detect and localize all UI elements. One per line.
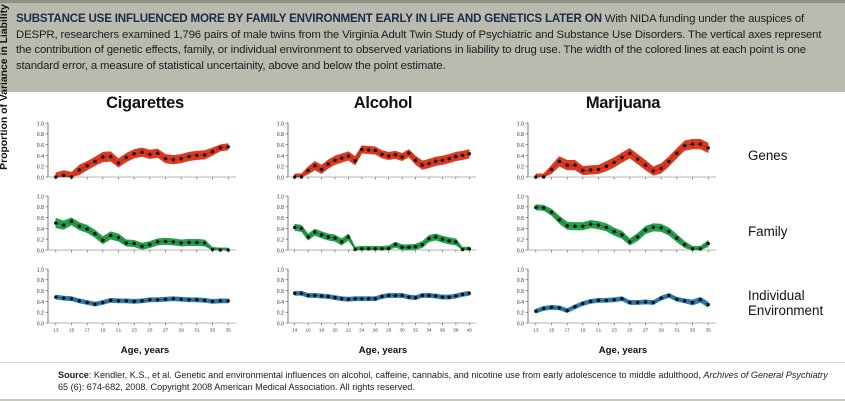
data-point: [62, 174, 66, 178]
y-tick-label: 0.8: [277, 205, 284, 211]
data-point: [219, 146, 223, 150]
y-tick-label: 0.8: [37, 278, 44, 284]
data-point: [644, 300, 648, 304]
y-tick-label: 1.0: [517, 267, 524, 273]
plot-svg: 0.00.20.40.60.81.0: [502, 120, 720, 188]
data-point: [691, 247, 695, 251]
data-point: [109, 299, 113, 303]
chart-alcohol-genes: 0.00.20.40.60.81.0: [262, 120, 480, 188]
header-lede: SUBSTANCE USE INFLUENCED MORE BY FAMILY …: [16, 12, 602, 25]
x-tick-label: 32: [413, 327, 419, 333]
data-point: [550, 210, 554, 214]
y-tick-label: 1.0: [277, 267, 284, 273]
data-point: [62, 223, 66, 227]
y-tick-label: 0.6: [277, 289, 284, 295]
data-point: [612, 298, 616, 302]
x-tick-label: 31: [194, 327, 200, 333]
data-point: [54, 175, 58, 179]
x-tick-label: 35: [225, 327, 231, 333]
y-tick-label: 0.8: [517, 205, 524, 211]
data-point: [675, 297, 679, 301]
x-tick-label: 30: [399, 327, 405, 333]
data-point: [628, 151, 632, 155]
data-point: [179, 157, 183, 161]
data-point: [219, 248, 223, 252]
chart-cigarettes-family: 0.00.20.40.60.81.0: [22, 193, 240, 261]
data-point: [195, 241, 199, 245]
y-tick-label: 0.0: [37, 248, 44, 254]
y-tick-label: 0.0: [37, 175, 44, 181]
data-point: [581, 224, 585, 228]
data-point: [581, 169, 585, 173]
y-tick-label: 0.2: [277, 238, 284, 244]
data-point: [70, 297, 74, 301]
data-point: [683, 144, 687, 148]
data-point: [148, 298, 152, 302]
y-tick-label: 1.0: [277, 121, 284, 127]
data-point: [156, 151, 160, 155]
data-point: [558, 306, 562, 310]
plot-svg: 0.00.20.40.60.81.01315171921232527293133…: [502, 266, 720, 334]
x-tick-label: 15: [549, 327, 555, 333]
data-point: [93, 232, 97, 236]
data-point: [558, 218, 562, 222]
data-point: [597, 299, 601, 303]
data-point: [101, 239, 105, 243]
data-point: [78, 168, 82, 172]
row-label-family: Family: [748, 224, 787, 239]
chart-marijuana-family: 0.00.20.40.60.81.0: [502, 193, 720, 261]
data-point: [706, 242, 710, 246]
data-point: [667, 230, 671, 234]
y-tick-label: 0.6: [37, 289, 44, 295]
data-point: [565, 163, 569, 167]
data-point: [605, 299, 609, 303]
data-point: [109, 234, 113, 238]
data-point: [447, 239, 451, 243]
data-point: [367, 247, 371, 251]
data-point: [581, 302, 585, 306]
x-tick-label: 23: [131, 327, 137, 333]
x-axis-title-alcohol: Age, years: [268, 345, 498, 356]
data-point: [172, 240, 176, 244]
data-point: [534, 175, 538, 179]
data-point: [394, 153, 398, 157]
data-point: [367, 148, 371, 152]
data-point: [644, 163, 648, 167]
data-point: [179, 241, 183, 245]
data-point: [534, 206, 538, 210]
data-point: [327, 295, 331, 299]
data-point: [380, 247, 384, 251]
data-point: [683, 299, 687, 303]
data-point: [195, 154, 199, 158]
data-point: [550, 306, 554, 310]
data-point: [667, 294, 671, 298]
data-point: [340, 156, 344, 160]
data-point: [407, 246, 411, 250]
y-tick-label: 0.2: [277, 311, 284, 317]
chart-alcohol-individual-environment: 0.00.20.40.60.81.01416182022242628303234…: [262, 266, 480, 334]
data-point: [659, 296, 663, 300]
error-band: [536, 205, 708, 250]
data-point: [454, 155, 458, 159]
data-point: [125, 241, 129, 245]
x-tick-label: 18: [319, 327, 325, 333]
data-point: [597, 223, 601, 227]
data-point: [306, 169, 310, 173]
x-tick-label: 28: [386, 327, 392, 333]
data-point: [573, 305, 577, 309]
data-point: [101, 301, 105, 305]
data-point: [636, 235, 640, 239]
data-point: [387, 294, 391, 298]
column-title-cigarettes: Cigarettes: [30, 94, 260, 113]
x-tick-label: 27: [643, 327, 649, 333]
y-tick-label: 0.6: [37, 143, 44, 149]
x-tick-label: 35: [705, 327, 711, 333]
data-point: [394, 243, 398, 247]
chart-marijuana-genes: 0.00.20.40.60.81.0: [502, 120, 720, 188]
x-tick-label: 13: [53, 327, 59, 333]
data-point: [652, 169, 656, 173]
x-tick-label: 33: [690, 327, 696, 333]
y-tick-label: 0.6: [517, 216, 524, 222]
y-tick-label: 0.4: [517, 227, 524, 233]
data-point: [78, 299, 82, 303]
y-tick-label: 0.0: [517, 248, 524, 254]
data-point: [374, 247, 378, 251]
data-point: [427, 162, 431, 166]
data-point: [226, 248, 230, 252]
data-point: [320, 168, 324, 172]
data-point: [172, 297, 176, 301]
y-tick-label: 0.2: [37, 238, 44, 244]
data-point: [652, 226, 656, 230]
data-point: [179, 297, 183, 301]
data-point: [327, 162, 331, 166]
data-point: [340, 240, 344, 244]
y-tick-label: 0.2: [517, 165, 524, 171]
data-point: [691, 142, 695, 146]
y-tick-label: 0.4: [277, 154, 284, 160]
data-point: [203, 299, 207, 303]
data-point: [300, 175, 304, 179]
source-label: Source: [58, 370, 89, 380]
data-point: [347, 154, 351, 158]
data-point: [340, 297, 344, 301]
data-point: [374, 297, 378, 301]
data-point: [468, 247, 472, 251]
data-point: [434, 294, 438, 298]
data-point: [597, 168, 601, 172]
data-point: [93, 302, 97, 306]
data-point: [620, 156, 624, 160]
data-point: [667, 160, 671, 164]
data-point: [387, 154, 391, 158]
data-point: [306, 294, 310, 298]
data-point: [306, 235, 310, 239]
data-point: [468, 152, 472, 156]
x-tick-label: 20: [332, 327, 338, 333]
y-tick-label: 1.0: [277, 194, 284, 200]
y-tick-label: 0.0: [277, 248, 284, 254]
data-point: [434, 235, 438, 239]
data-point: [636, 301, 640, 305]
data-point: [414, 245, 418, 249]
data-point: [70, 220, 74, 224]
data-point: [628, 240, 632, 244]
data-point: [353, 248, 357, 252]
data-point: [441, 237, 445, 241]
column-title-alcohol: Alcohol: [268, 94, 498, 113]
x-tick-label: 17: [564, 327, 570, 333]
data-point: [421, 294, 425, 298]
data-point: [454, 294, 458, 298]
data-point: [558, 160, 562, 164]
plot-svg: 0.00.20.40.60.81.01416182022242628303234…: [262, 266, 480, 334]
data-point: [293, 175, 297, 179]
data-point: [589, 300, 593, 304]
data-point: [203, 241, 207, 245]
row-label-genes: Genes: [748, 148, 787, 163]
data-point: [219, 299, 223, 303]
column-title-marijuana: Marijuana: [508, 94, 738, 113]
data-point: [636, 157, 640, 161]
data-point: [187, 241, 191, 245]
data-point: [461, 248, 465, 252]
footer-source: Source: Kendler, K.S., et al. Genetic an…: [0, 362, 845, 401]
x-tick-label: 22: [346, 327, 352, 333]
y-axis-title: Proportion of Variance in Liability: [0, 0, 10, 192]
data-point: [400, 246, 404, 250]
y-tick-label: 1.0: [517, 194, 524, 200]
y-tick-label: 0.4: [517, 300, 524, 306]
source-journal: Archives of General Psychiatry: [703, 370, 827, 380]
y-tick-label: 0.6: [517, 143, 524, 149]
x-tick-label: 14: [292, 327, 298, 333]
data-point: [659, 226, 663, 230]
data-point: [620, 297, 624, 301]
y-tick-label: 0.0: [277, 321, 284, 327]
data-point: [132, 242, 136, 246]
data-point: [360, 297, 364, 301]
data-point: [333, 296, 337, 300]
data-point: [156, 240, 160, 244]
data-point: [78, 224, 82, 228]
data-point: [534, 309, 538, 313]
data-point: [353, 159, 357, 163]
row-label-individual-environment: Individual Environment: [748, 288, 840, 318]
data-point: [187, 155, 191, 159]
x-tick-label: 29: [178, 327, 184, 333]
y-tick-label: 0.8: [37, 205, 44, 211]
plot-svg: 0.00.20.40.60.81.0: [22, 120, 240, 188]
data-point: [387, 247, 391, 251]
data-point: [62, 296, 66, 300]
data-point: [226, 145, 230, 149]
data-point: [565, 309, 569, 313]
data-point: [109, 155, 113, 159]
plot-grid: Proportion of Variance in Liability Ciga…: [0, 92, 845, 362]
data-point: [85, 301, 89, 305]
data-point: [421, 243, 425, 247]
x-tick-label: 40: [467, 327, 473, 333]
data-point: [447, 157, 451, 161]
data-point: [164, 297, 168, 301]
data-point: [468, 292, 472, 296]
y-tick-label: 0.4: [517, 154, 524, 160]
data-point: [140, 150, 144, 154]
data-point: [675, 151, 679, 155]
plot-svg: 0.00.20.40.60.81.01315171921232527293133…: [22, 266, 240, 334]
y-tick-label: 0.6: [277, 143, 284, 149]
data-point: [461, 293, 465, 297]
y-tick-label: 0.2: [517, 311, 524, 317]
data-point: [313, 164, 317, 168]
y-tick-label: 0.0: [517, 321, 524, 327]
data-point: [605, 164, 609, 168]
data-point: [313, 230, 317, 234]
source-line-2: 65 (6): 674-682, 2008. Copyright 2008 Am…: [58, 382, 415, 392]
data-point: [407, 151, 411, 155]
x-tick-label: 15: [69, 327, 75, 333]
data-point: [132, 300, 136, 304]
data-point: [542, 307, 546, 311]
data-point: [454, 240, 458, 244]
x-tick-label: 17: [84, 327, 90, 333]
y-tick-label: 0.4: [37, 227, 44, 233]
data-point: [226, 299, 230, 303]
data-point: [211, 150, 215, 154]
data-point: [85, 164, 89, 168]
data-point: [85, 227, 89, 231]
data-point: [367, 297, 371, 301]
error-band: [295, 224, 470, 250]
data-point: [93, 160, 97, 164]
data-point: [675, 236, 679, 240]
data-point: [414, 296, 418, 300]
data-point: [565, 224, 569, 228]
x-tick-label: 27: [163, 327, 169, 333]
x-axis-title-cigarettes: Age, years: [30, 345, 260, 356]
data-point: [156, 298, 160, 302]
data-point: [320, 233, 324, 237]
data-point: [300, 292, 304, 296]
data-point: [620, 233, 624, 237]
y-tick-label: 0.6: [37, 216, 44, 222]
x-tick-label: 36: [440, 327, 446, 333]
x-tick-label: 34: [426, 327, 432, 333]
data-point: [612, 161, 616, 165]
y-tick-label: 0.2: [37, 165, 44, 171]
data-point: [164, 240, 168, 244]
x-tick-label: 23: [611, 327, 617, 333]
x-tick-label: 38: [453, 327, 459, 333]
plot-svg: 0.00.20.40.60.81.0: [22, 193, 240, 261]
data-point: [441, 295, 445, 299]
header-band: SUBSTANCE USE INFLUENCED MORE BY FAMILY …: [0, 0, 845, 92]
plot-svg: 0.00.20.40.60.81.0: [502, 193, 720, 261]
data-point: [652, 301, 656, 305]
data-point: [148, 153, 152, 157]
data-point: [589, 222, 593, 226]
data-point: [706, 303, 710, 307]
x-tick-label: 19: [100, 327, 106, 333]
data-point: [542, 206, 546, 210]
plot-svg: 0.00.20.40.60.81.0: [262, 193, 480, 261]
data-point: [211, 248, 215, 252]
x-tick-label: 24: [359, 327, 365, 333]
data-point: [542, 175, 546, 179]
y-tick-label: 0.8: [517, 132, 524, 138]
data-point: [353, 297, 357, 301]
data-point: [320, 294, 324, 298]
data-point: [360, 148, 364, 152]
data-point: [117, 299, 121, 303]
data-point: [394, 294, 398, 298]
data-point: [628, 301, 632, 305]
data-point: [612, 230, 616, 234]
x-tick-label: 26: [373, 327, 379, 333]
data-point: [573, 163, 577, 167]
data-point: [434, 160, 438, 164]
data-point: [441, 159, 445, 163]
data-point: [644, 228, 648, 232]
y-tick-label: 1.0: [37, 121, 44, 127]
y-tick-label: 0.2: [37, 311, 44, 317]
data-point: [400, 294, 404, 298]
data-point: [589, 168, 593, 172]
y-tick-label: 0.8: [37, 132, 44, 138]
data-point: [407, 295, 411, 299]
y-tick-label: 0.2: [277, 165, 284, 171]
data-point: [374, 149, 378, 153]
data-point: [461, 154, 465, 158]
source-line-1: : Kendler, K.S., et al. Genetic and envi…: [89, 370, 701, 380]
y-tick-label: 0.4: [37, 154, 44, 160]
error-band: [536, 293, 708, 313]
chart-marijuana-individual-environment: 0.00.20.40.60.81.01315171921232527293133…: [502, 266, 720, 334]
data-point: [293, 292, 297, 296]
data-point: [333, 159, 337, 163]
data-point: [360, 247, 364, 251]
data-point: [380, 295, 384, 299]
y-tick-label: 1.0: [517, 121, 524, 127]
data-point: [164, 157, 168, 161]
data-point: [347, 235, 351, 239]
y-tick-label: 0.4: [277, 300, 284, 306]
data-point: [347, 297, 351, 301]
x-axis-title-marijuana: Age, years: [508, 345, 738, 356]
data-point: [699, 247, 703, 251]
y-tick-label: 0.0: [517, 175, 524, 181]
data-point: [101, 155, 105, 159]
data-point: [327, 235, 331, 239]
x-tick-label: 19: [580, 327, 586, 333]
y-tick-label: 0.4: [277, 227, 284, 233]
y-tick-label: 1.0: [37, 267, 44, 273]
data-point: [195, 298, 199, 302]
error-band: [56, 144, 228, 177]
header-paragraph: SUBSTANCE USE INFLUENCED MORE BY FAMILY …: [16, 11, 831, 74]
data-point: [605, 226, 609, 230]
x-tick-label: 25: [147, 327, 153, 333]
x-tick-label: 13: [533, 327, 539, 333]
plot-svg: 0.00.20.40.60.81.0: [262, 120, 480, 188]
y-tick-label: 0.0: [37, 321, 44, 327]
data-point: [691, 301, 695, 305]
